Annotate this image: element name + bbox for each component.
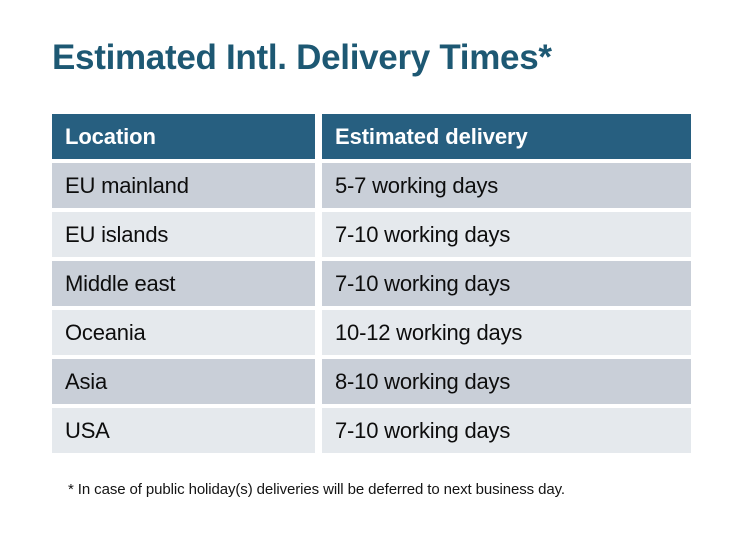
delivery-times-page: Estimated Intl. Delivery Times* Location… xyxy=(0,0,745,536)
table-row: Oceania 10-12 working days xyxy=(52,310,691,355)
cell-delivery-label: 7-10 working days xyxy=(335,420,510,442)
cell-location-label: Middle east xyxy=(65,273,175,295)
page-title: Estimated Intl. Delivery Times* xyxy=(52,36,552,80)
cell-delivery-label: 7-10 working days xyxy=(335,273,510,295)
column-header-estimated-delivery-label: Estimated delivery xyxy=(335,126,528,148)
cell-location: USA xyxy=(52,408,315,453)
cell-location-label: Asia xyxy=(65,371,107,393)
cell-location: EU islands xyxy=(52,212,315,257)
table-row: EU mainland 5-7 working days xyxy=(52,163,691,208)
cell-location: EU mainland xyxy=(52,163,315,208)
cell-delivery: 10-12 working days xyxy=(322,310,691,355)
cell-delivery: 8-10 working days xyxy=(322,359,691,404)
cell-delivery-label: 7-10 working days xyxy=(335,224,510,246)
column-header-location-label: Location xyxy=(65,126,156,148)
table-row: USA 7-10 working days xyxy=(52,408,691,453)
cell-delivery: 7-10 working days xyxy=(322,261,691,306)
cell-location: Asia xyxy=(52,359,315,404)
table-row: EU islands 7-10 working days xyxy=(52,212,691,257)
table-row: Asia 8-10 working days xyxy=(52,359,691,404)
cell-location-label: USA xyxy=(65,420,110,442)
table-header-row: Location Estimated delivery xyxy=(52,114,691,159)
cell-location-label: EU islands xyxy=(65,224,168,246)
cell-location: Middle east xyxy=(52,261,315,306)
cell-delivery-label: 10-12 working days xyxy=(335,322,522,344)
column-header-location: Location xyxy=(52,114,315,159)
cell-delivery: 5-7 working days xyxy=(322,163,691,208)
cell-location: Oceania xyxy=(52,310,315,355)
footnote-text: * In case of public holiday(s) deliverie… xyxy=(68,480,565,500)
cell-delivery: 7-10 working days xyxy=(322,212,691,257)
cell-delivery-label: 5-7 working days xyxy=(335,175,498,197)
cell-location-label: Oceania xyxy=(65,322,146,344)
cell-delivery: 7-10 working days xyxy=(322,408,691,453)
estimated-delivery-table: Location Estimated delivery EU mainland … xyxy=(52,114,691,453)
column-header-estimated-delivery: Estimated delivery xyxy=(322,114,691,159)
table-row: Middle east 7-10 working days xyxy=(52,261,691,306)
cell-delivery-label: 8-10 working days xyxy=(335,371,510,393)
cell-location-label: EU mainland xyxy=(65,175,189,197)
